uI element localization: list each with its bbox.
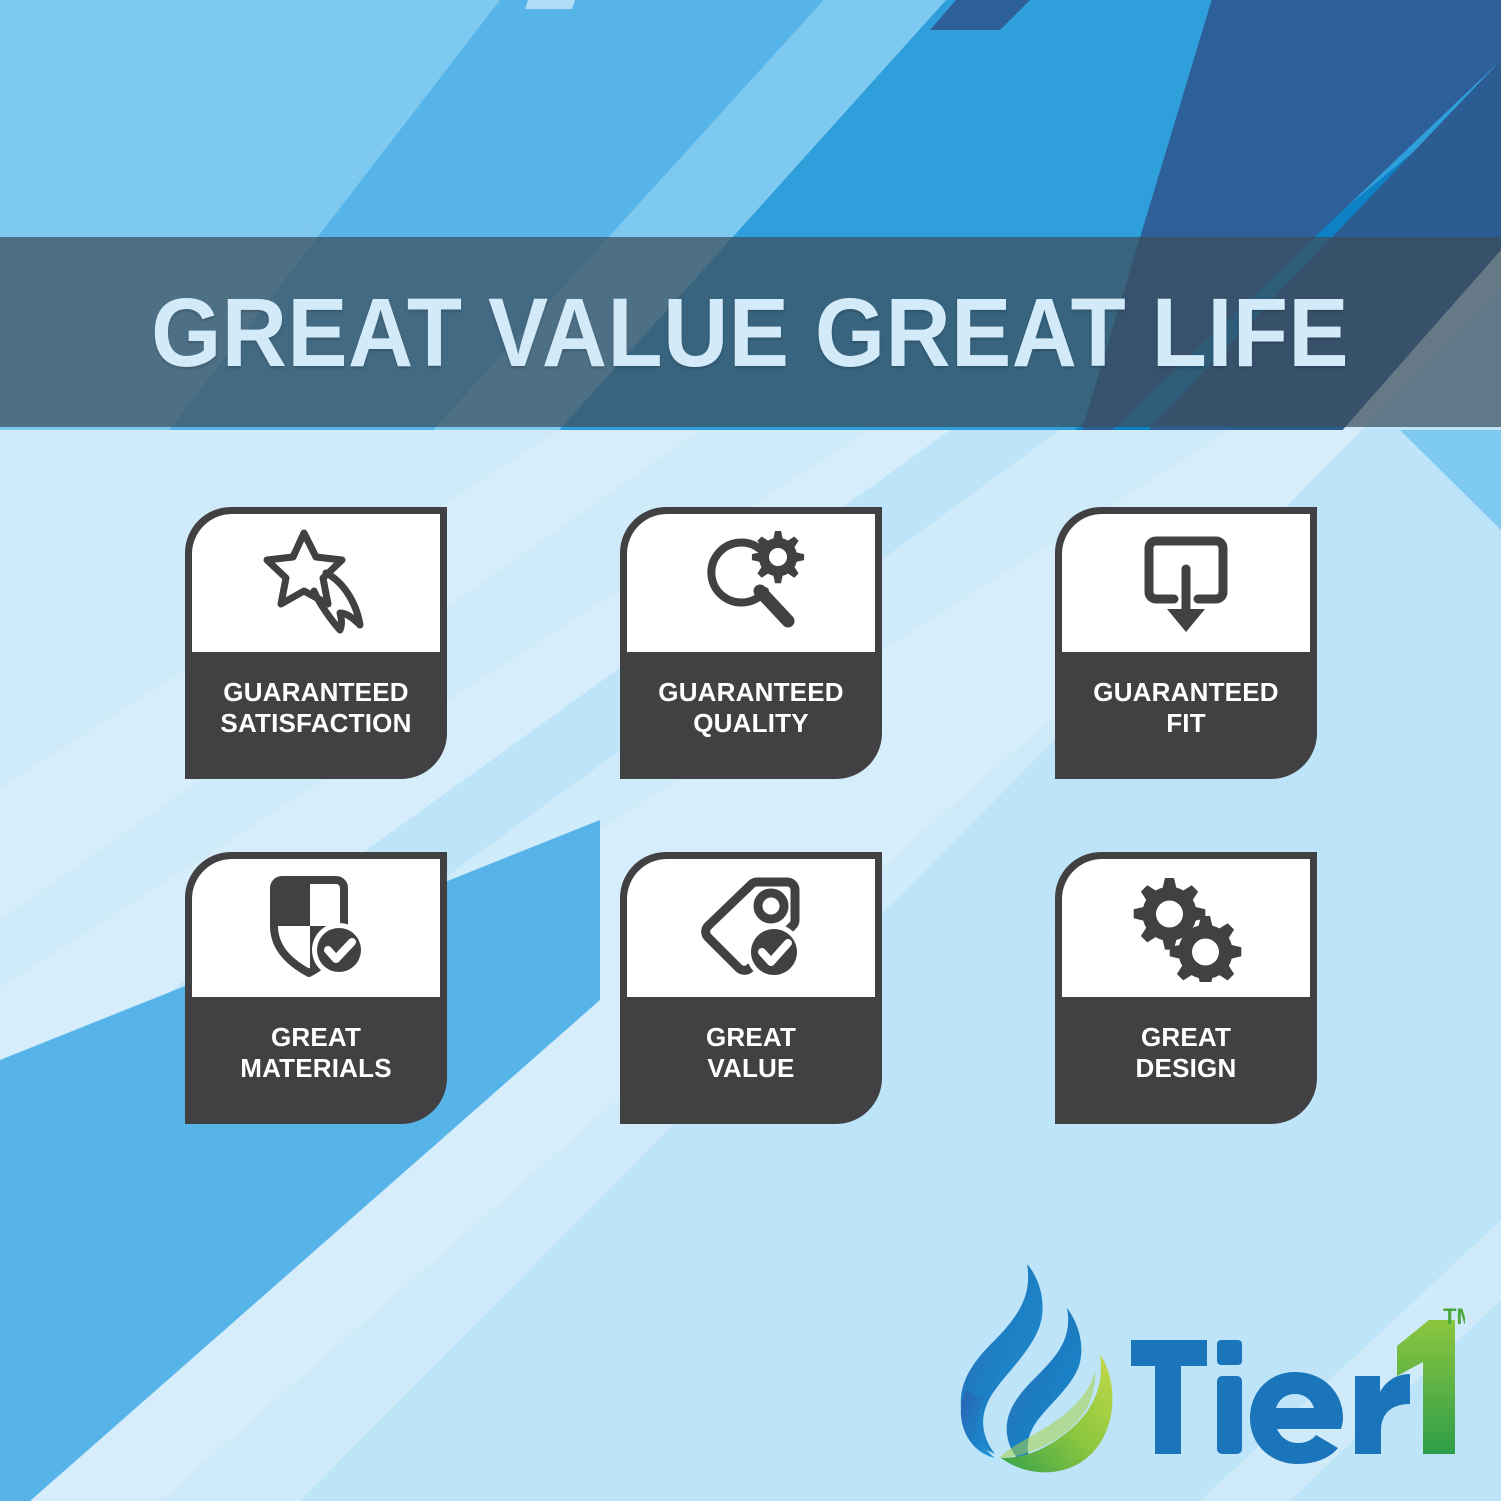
card-great-materials[interactable]: GREAT MATERIALS bbox=[185, 852, 447, 1124]
shooting-star-icon bbox=[256, 529, 376, 637]
card-label-line2: DESIGN bbox=[1136, 1053, 1237, 1083]
trademark-symbol: TM bbox=[1443, 1304, 1465, 1329]
headline-banner: GREAT VALUE GREAT LIFE bbox=[0, 237, 1501, 427]
price-tag-check-icon bbox=[695, 874, 807, 982]
card-label-line1: GREAT bbox=[1141, 1022, 1231, 1052]
card-label: GREAT MATERIALS bbox=[185, 997, 447, 1124]
card-label: GUARANTEED FIT bbox=[1055, 652, 1317, 779]
logo-wordmark bbox=[1131, 1340, 1410, 1464]
card-icon-panel bbox=[192, 514, 440, 652]
card-guaranteed-fit[interactable]: GUARANTEED FIT bbox=[1055, 507, 1317, 779]
card-icon-panel bbox=[1062, 859, 1310, 997]
card-guaranteed-satisfaction[interactable]: GUARANTEED SATISFACTION bbox=[185, 507, 447, 779]
card-icon-panel bbox=[1062, 514, 1310, 652]
card-label-line1: GUARANTEED bbox=[658, 677, 843, 707]
card-label: GUARANTEED SATISFACTION bbox=[185, 652, 447, 779]
water-drop-leaf-icon bbox=[961, 1264, 1113, 1472]
card-label: GREAT VALUE bbox=[620, 997, 882, 1124]
magnifier-gear-icon bbox=[692, 529, 810, 637]
two-gears-icon bbox=[1129, 874, 1243, 982]
card-label-line2: VALUE bbox=[707, 1053, 794, 1083]
card-label-line1: GREAT bbox=[706, 1022, 796, 1052]
card-label-line2: FIT bbox=[1166, 708, 1206, 738]
card-label-line1: GUARANTEED bbox=[223, 677, 408, 707]
card-label-line1: GUARANTEED bbox=[1093, 677, 1278, 707]
card-great-design[interactable]: GREAT DESIGN bbox=[1055, 852, 1317, 1124]
tier1-logo: TM bbox=[955, 1258, 1465, 1490]
fit-arrow-into-slot-icon bbox=[1134, 529, 1238, 637]
card-guaranteed-quality[interactable]: GUARANTEED QUALITY bbox=[620, 507, 882, 779]
card-label-line2: SATISFACTION bbox=[220, 708, 411, 738]
card-icon-panel bbox=[627, 514, 875, 652]
page-title: GREAT VALUE GREAT LIFE bbox=[152, 284, 1350, 381]
feature-card-grid: GUARANTEED SATISFACTION bbox=[185, 507, 1320, 1124]
card-icon-panel bbox=[192, 859, 440, 997]
card-icon-panel bbox=[627, 859, 875, 997]
card-great-value[interactable]: GREAT VALUE bbox=[620, 852, 882, 1124]
promo-graphic: GREAT VALUE GREAT LIFE GUARANTEED SATISF… bbox=[0, 0, 1501, 1501]
card-label-line2: MATERIALS bbox=[240, 1053, 392, 1083]
card-label: GREAT DESIGN bbox=[1055, 997, 1317, 1124]
card-label: GUARANTEED QUALITY bbox=[620, 652, 882, 779]
card-label-line1: GREAT bbox=[271, 1022, 361, 1052]
shield-check-icon bbox=[262, 874, 370, 982]
card-label-line2: QUALITY bbox=[693, 708, 809, 738]
